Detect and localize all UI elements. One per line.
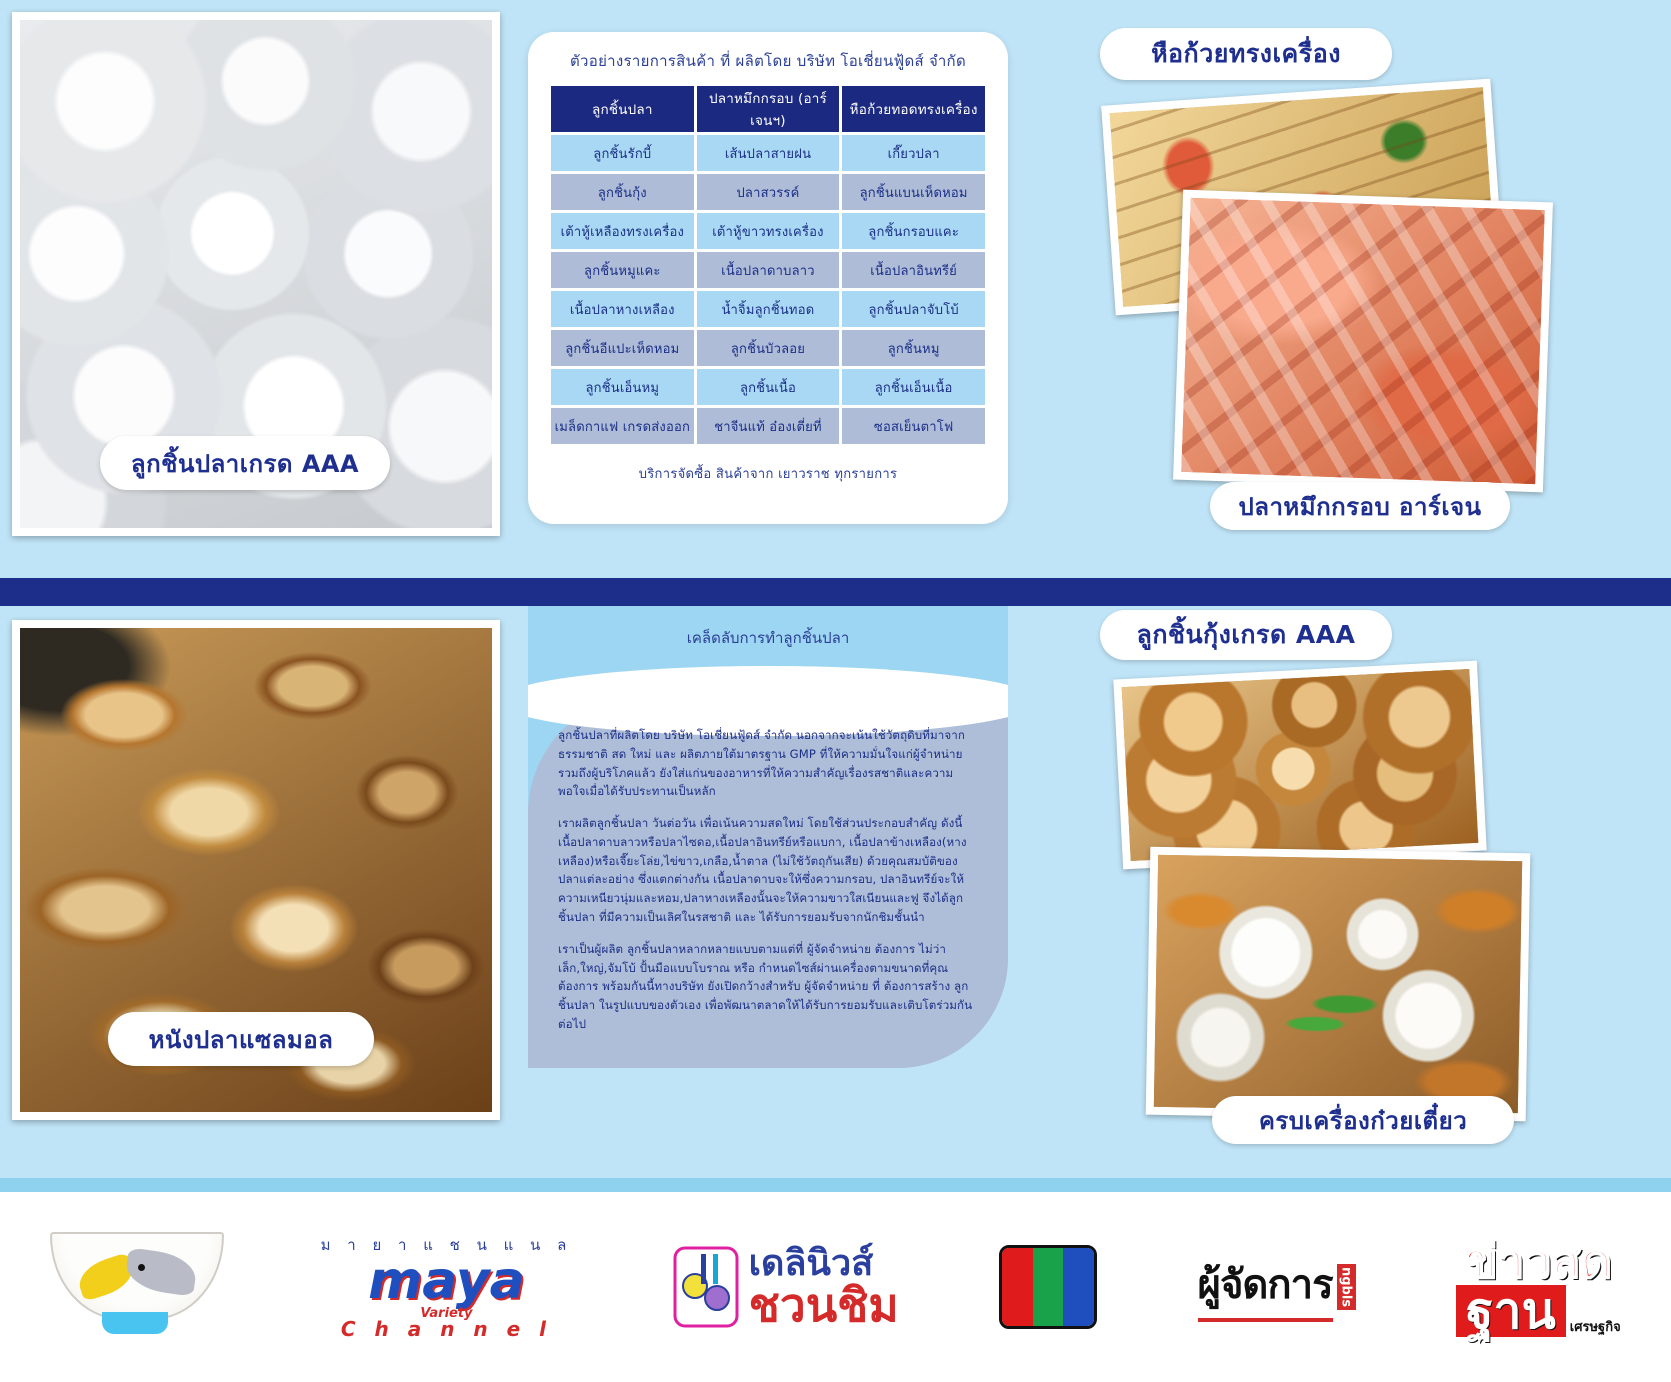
manager-logo: ผู้จัดการ ngbls (1198, 1252, 1356, 1322)
tv5-blue-band (1063, 1248, 1094, 1326)
tv5-red-band (1002, 1248, 1033, 1326)
table-cell: ลูกชิ้นอีแปะเห็ดหอม (551, 330, 694, 366)
caption-text: ปลาหมึกกรอบ อาร์เจน (1239, 487, 1482, 526)
table-cell: เนื้อปลาหางเหลือง (551, 291, 694, 327)
caption-noodle-set: ครบเครื่องก๋วยเตี๋ยว (1212, 1096, 1514, 1144)
caption-text: ครบเครื่องก๋วยเตี๋ยว (1259, 1101, 1467, 1140)
table-cell: เต้าหู้ขาวทรงเครื่อง (697, 213, 840, 249)
table-header-cell-1: ปลาหมึกกรอบ (อาร์เจนฯ) (697, 86, 840, 132)
section-divider-bar (0, 578, 1671, 606)
caption-text: หนังปลาแซลมอล (149, 1020, 334, 1059)
table-header-row: ลูกชิ้นปลา ปลาหมึกกรอบ (อาร์เจนฯ) หือก้ว… (551, 86, 985, 132)
tv5-green-band (1033, 1248, 1064, 1326)
table-cell: ลูกชิ้นรักบี้ (551, 135, 694, 171)
daily-news-chuanchim-logo: เดลินิวส์ ชวนชิม (673, 1246, 899, 1328)
than-wordmark: ฐาน (1456, 1285, 1566, 1338)
product-table-panel: ตัวอย่างรายการสินค้า ที่ ผลิตโดย บริษัท … (528, 32, 1008, 524)
bowl-body (50, 1232, 224, 1320)
bowl-foot (102, 1312, 168, 1334)
table-row: เนื้อปลาหางเหลือง น้ำจิ้มลูกชิ้นทอด ลูกช… (551, 291, 985, 327)
table-cell: ลูกชิ้นแบนเห็ดหอม (842, 174, 985, 210)
tv5-shield-icon (999, 1245, 1097, 1329)
table-row: ลูกชิ้นกุ้ง ปลาสวรรค์ ลูกชิ้นแบนเห็ดหอม (551, 174, 985, 210)
table-cell: เต้าหู้เหลืองทรงเครื่อง (551, 213, 694, 249)
table-header-cell-2: หือก้วยทอดทรงเครื่อง (842, 86, 985, 132)
khaosod-wordmark: ข่าวสด (1465, 1237, 1612, 1285)
table-cell: ลูกชิ้นเนื้อ (697, 369, 840, 405)
tips-paragraph: ลูกชิ้นปลาที่ผลิตโดย บริษัท โอเชี่ยนฟู้ด… (558, 726, 978, 801)
photo-frame-salmon-skin: หนังปลาแซลมอล (12, 620, 500, 1120)
daily-news-line1: เดลินิวส์ (749, 1246, 899, 1282)
table-cell: เส้นปลาสายฝน (697, 135, 840, 171)
table-cell: ซอสเย็นตาโฟ (842, 408, 985, 444)
table-row: ลูกชิ้นเอ็นหมู ลูกชิ้นเนื้อ ลูกชิ้นเอ็นเ… (551, 369, 985, 405)
maya-channel-text: C h a n n e l (341, 1317, 552, 1341)
glass-fork-icon (673, 1246, 739, 1328)
khaosod-thanhetsetthakit-logo: ข่าวสด ฐาน เศรษฐกิจ (1456, 1237, 1621, 1338)
table-cell: เนื้อปลาดาบลาว (697, 252, 840, 288)
fish-bowl-logo (50, 1232, 220, 1342)
table-row: เมล็ดกาแฟ เกรดส่งออก ชาจีนแท้ อ๋องเตี่ยท… (551, 408, 985, 444)
photo-noodle-set (1154, 855, 1522, 1113)
photo-frame-shrimpball (1113, 661, 1486, 870)
product-table: ลูกชิ้นปลา ปลาหมึกกรอบ (อาร์เจนฯ) หือก้ว… (548, 83, 988, 447)
maya-channel-logo: ม า ย า แ ช น แ น ล maya Variety C h a n… (321, 1233, 573, 1341)
table-cell: ลูกชิ้นเอ็นหมู (551, 369, 694, 405)
manager-tag: ngbls (1337, 1264, 1356, 1310)
table-cell: ลูกชิ้นหมูแคะ (551, 252, 694, 288)
table-cell: ลูกชิ้นปลาจับโบ้ (842, 291, 985, 327)
table-header-cell-0: ลูกชิ้นปลา (551, 86, 694, 132)
photo-frame-squid-argen (1173, 190, 1553, 493)
maya-wordmark: maya (368, 1257, 525, 1306)
caption-shrimpball-aaa: ลูกชิ้นกุ้งเกรด AAA (1100, 610, 1392, 660)
table-row: ลูกชิ้นหมูแคะ เนื้อปลาดาบลาว เนื้อปลาอิน… (551, 252, 985, 288)
caption-salmon-skin: หนังปลาแซลมอล (108, 1012, 374, 1066)
tips-panel: เคล็ดลับการทำลูกชิ้นปลา ลูกชิ้นปลาที่ผลิ… (528, 606, 1008, 1068)
table-cell: ลูกชิ้นหมู (842, 330, 985, 366)
product-table-title: ตัวอย่างรายการสินค้า ที่ ผลิตโดย บริษัท … (528, 32, 1008, 83)
caption-text: ลูกชิ้นปลาเกรด AAA (131, 444, 359, 483)
tips-paragraph: เราผลิตลูกชิ้นปลา วันต่อวัน เพื่อเน้นควา… (558, 814, 978, 927)
table-cell: ลูกชิ้นกรอบแคะ (842, 213, 985, 249)
table-cell: น้ำจิ้มลูกชิ้นทอด (697, 291, 840, 327)
table-cell: ลูกชิ้นบัวลอย (697, 330, 840, 366)
table-row: ลูกชิ้นรักบี้ เส้นปลาสายฝน เกี๊ยวปลา (551, 135, 985, 171)
photo-shrimpball-aaa (1122, 669, 1479, 861)
tv5-logo (999, 1245, 1097, 1329)
grey-fish-icon (124, 1247, 199, 1296)
footer-logo-bar: ม า ย า แ ช น แ น ล maya Variety C h a n… (0, 1192, 1671, 1382)
caption-text: หือก้วยทรงเครื่อง (1151, 34, 1341, 74)
caption-fishball-aaa: ลูกชิ้นปลาเกรด AAA (100, 436, 390, 490)
photo-frame-noodle-set (1146, 847, 1531, 1122)
table-cell: ลูกชิ้นกุ้ง (551, 174, 694, 210)
photo-frame-fishball: ลูกชิ้นปลาเกรด AAA (12, 12, 500, 536)
daily-news-line2: ชวนชิม (749, 1282, 899, 1328)
tips-title: เคล็ดลับการทำลูกชิ้นปลา (528, 626, 1008, 650)
than-sub-text: เศรษฐกิจ (1570, 1316, 1621, 1337)
table-cell: เนื้อปลาอินทรีย์ (842, 252, 985, 288)
caption-squid-argen: ปลาหมึกกรอบ อาร์เจน (1210, 482, 1510, 530)
caption-text: ลูกชิ้นกุ้งเกรด AAA (1137, 615, 1356, 655)
footer-strip (0, 1178, 1671, 1192)
daily-news-text-block: เดลินิวส์ ชวนชิม (749, 1246, 899, 1328)
brochure-page: ลูกชิ้นปลาเกรด AAA ตัวอย่างรายการสินค้า … (0, 0, 1671, 1382)
manager-wordmark: ผู้จัดการ (1198, 1252, 1333, 1322)
table-cell: ปลาสวรรค์ (697, 174, 840, 210)
table-cell: ชาจีนแท้ อ๋องเตี่ยที่ (697, 408, 840, 444)
table-row: เต้าหู้เหลืองทรงเครื่อง เต้าหู้ขาวทรงเคร… (551, 213, 985, 249)
product-table-footnote: บริการจัดซื้อ สินค้าจาก เยาวราช ทุกรายกา… (528, 447, 1008, 484)
bowl-graphic (50, 1232, 220, 1342)
table-cell: เมล็ดกาแฟ เกรดส่งออก (551, 408, 694, 444)
table-row: ลูกชิ้นอีแปะเห็ดหอม ลูกชิ้นบัวลอย ลูกชิ้… (551, 330, 985, 366)
caption-hoi-kuay: หือก้วยทรงเครื่อง (1100, 28, 1392, 80)
than-block: ฐาน เศรษฐกิจ (1456, 1285, 1621, 1338)
table-cell: เกี๊ยวปลา (842, 135, 985, 171)
tips-body: ลูกชิ้นปลาที่ผลิตโดย บริษัท โอเชี่ยนฟู้ด… (558, 726, 978, 1047)
photo-squid-argen (1181, 198, 1544, 484)
tips-paragraph: เราเป็นผู้ผลิต ลูกชิ้นปลาหลากหลายแบบตามแ… (558, 940, 978, 1034)
table-cell: ลูกชิ้นเอ็นเนื้อ (842, 369, 985, 405)
